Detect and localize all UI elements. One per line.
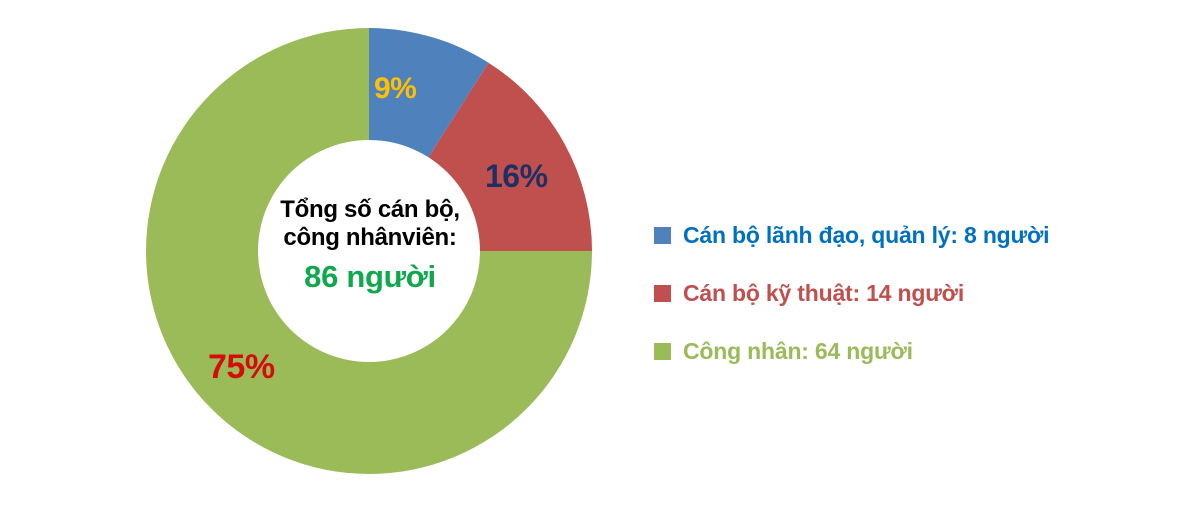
center-label-line-1: Tổng số cán bộ,: [254, 196, 486, 224]
chart-legend: Cán bộ lãnh đạo, quản lý: 8 người Cán bộ…: [654, 206, 1049, 380]
donut-chart-figure: 9% 16% 75% Tổng số cán bộ, công nhânviên…: [0, 0, 1192, 526]
center-label-line-2: công nhânviên:: [254, 224, 486, 252]
slice-data-label-workers: 75%: [208, 348, 275, 387]
legend-item-label: Cán bộ lãnh đạo, quản lý: 8 người: [683, 222, 1049, 249]
legend-item-label: Cán bộ kỹ thuật: 14 người: [683, 280, 964, 307]
legend-swatch-icon: [654, 227, 671, 244]
legend-item-leadership[interactable]: Cán bộ lãnh đạo, quản lý: 8 người: [654, 206, 1049, 264]
legend-item-technical[interactable]: Cán bộ kỹ thuật: 14 người: [654, 264, 1049, 322]
legend-swatch-icon: [654, 343, 671, 360]
donut-center-label: Tổng số cán bộ, công nhânviên: 86 người: [254, 196, 486, 295]
center-total-value: 86 người: [254, 259, 486, 296]
slice-data-label-technical: 16%: [485, 158, 548, 195]
legend-item-workers[interactable]: Công nhân: 64 người: [654, 322, 1049, 380]
slice-data-label-leadership: 9%: [374, 72, 416, 106]
legend-swatch-icon: [654, 285, 671, 302]
legend-item-label: Công nhân: 64 người: [683, 338, 913, 365]
